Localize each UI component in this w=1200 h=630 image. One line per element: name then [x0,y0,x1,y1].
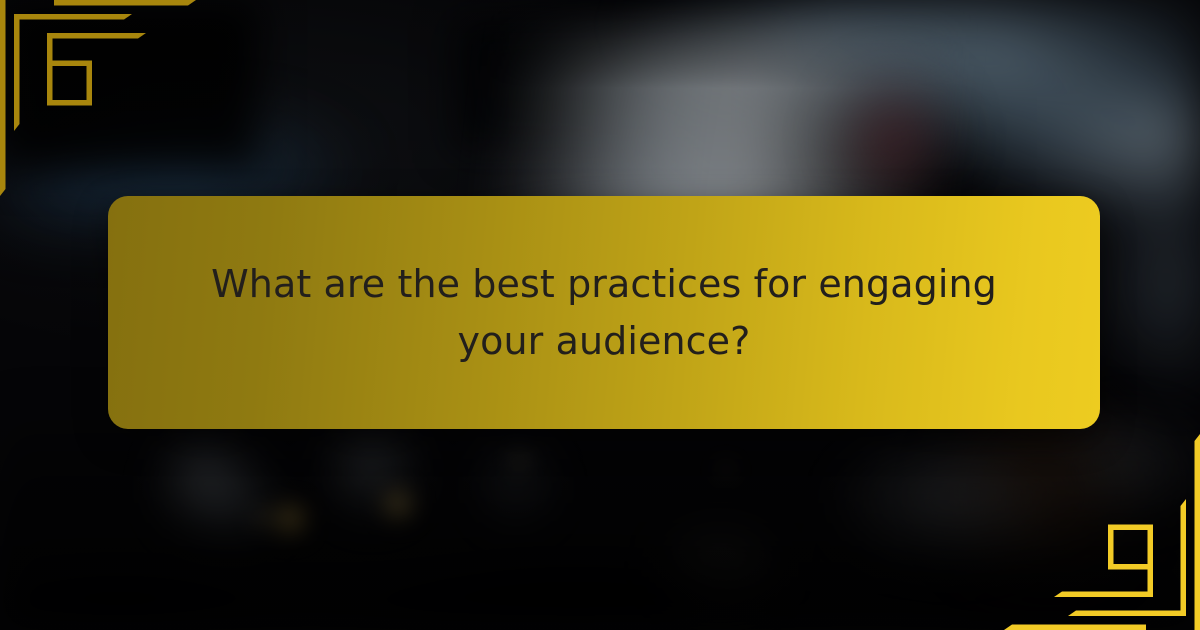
question-banner: What are the best practices for engaging… [108,196,1100,429]
question-text: What are the best practices for engaging… [174,256,1034,368]
social-share-card: What are the best practices for engaging… [0,0,1200,630]
